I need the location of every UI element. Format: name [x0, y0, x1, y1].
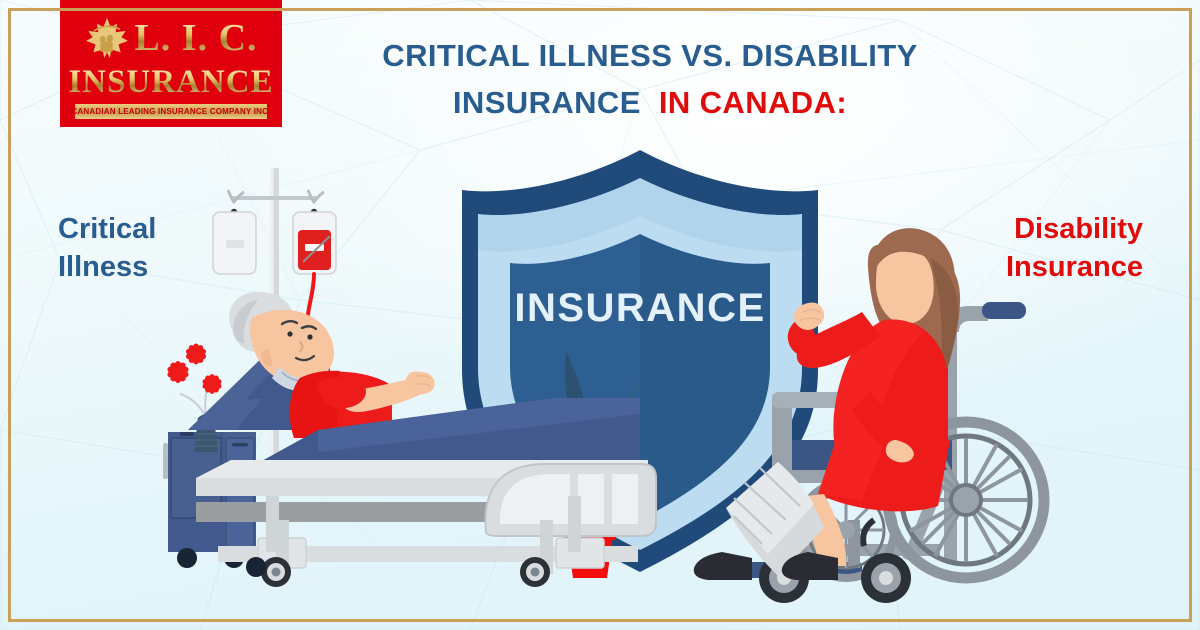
logo-wordmark: INSURANCE [68, 65, 273, 99]
label-critical-illness: Critical Illness [58, 210, 156, 286]
page-title: CRITICAL ILLNESS VS. DISABILITY INSURANC… [300, 32, 1000, 126]
label-disability-insurance: Disability Insurance [1006, 210, 1143, 286]
title-line-2-blue: INSURANCE [453, 85, 641, 120]
label-disability-insurance-line2: Insurance [1006, 248, 1143, 286]
title-line-2-red: IN CANADA: [659, 85, 847, 120]
maple-leaf-family-icon [84, 15, 130, 61]
wheelchair-front-caster [861, 553, 911, 603]
title-line-1: CRITICAL ILLNESS VS. DISABILITY [300, 32, 1000, 79]
logo-top-row: L. I. C. [60, 12, 282, 64]
title-line-2: INSURANCE IN CANADA: [300, 79, 1000, 126]
logo-initials: L. I. C. [134, 19, 257, 57]
label-disability-insurance-line1: Disability [1006, 210, 1143, 248]
label-critical-illness-line2: Illness [58, 248, 156, 286]
infographic-canvas: INSURANCE [0, 0, 1200, 630]
label-critical-illness-line1: Critical [58, 210, 156, 248]
logo-tagline: CANADIAN LEADING INSURANCE COMPANY INC. [75, 104, 267, 119]
lic-insurance-logo[interactable]: L. I. C. INSURANCE CANADIAN LEADING INSU… [60, 0, 282, 127]
